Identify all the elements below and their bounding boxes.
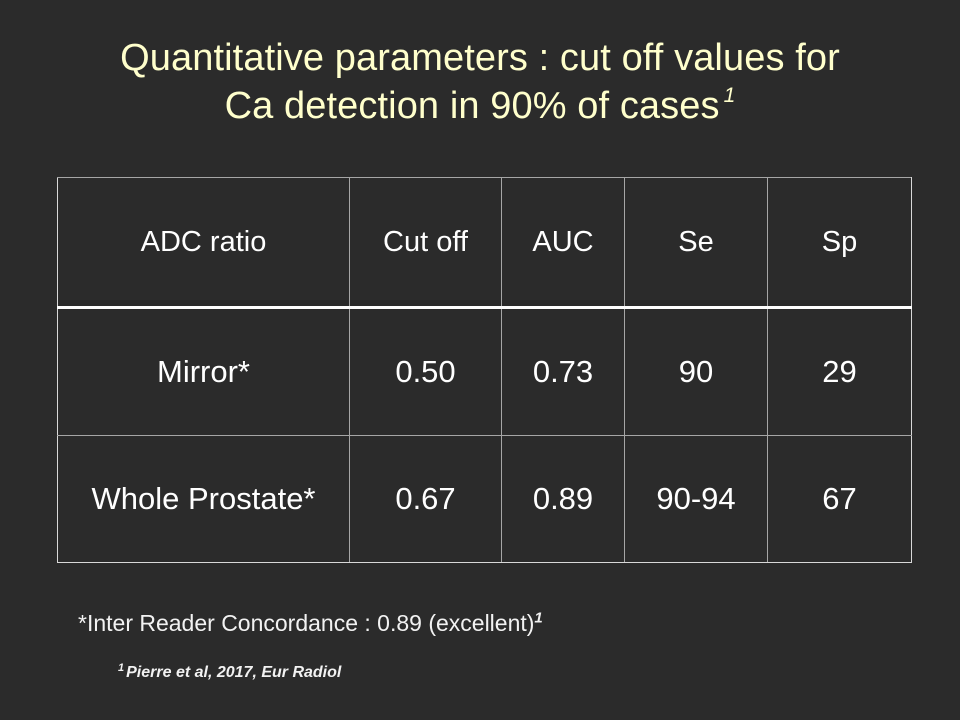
citation-text: Pierre et al, 2017, Eur Radiol	[126, 664, 341, 681]
cell-mirror-auc: 0.73	[502, 308, 625, 436]
table-row: Mirror* 0.50 0.73 90 29	[58, 308, 912, 436]
cutoff-values-table: ADC ratio Cut off AUC Se Sp Mirror* 0.50…	[57, 177, 912, 563]
table-row: Whole Prostate* 0.67 0.89 90-94 67	[58, 436, 912, 563]
cell-whole-prostate-sp: 67	[768, 436, 912, 563]
footnote-concordance-superscript: 1	[534, 609, 542, 626]
page-title-line-1: Quantitative parameters : cut off values…	[40, 34, 920, 82]
cell-mirror-sp: 29	[768, 308, 912, 436]
column-header-se: Se	[625, 178, 768, 308]
column-header-sp: Sp	[768, 178, 912, 308]
page-title-line-2: Ca detection in 90% of cases1	[40, 82, 920, 130]
cell-whole-prostate-cut-off: 0.67	[350, 436, 502, 563]
slide-canvas: Quantitative parameters : cut off values…	[0, 0, 960, 720]
citation-superscript: 1	[118, 662, 124, 674]
footnote-inter-reader-concordance: *Inter Reader Concordance : 0.89 (excell…	[78, 608, 543, 638]
row-label-whole-prostate: Whole Prostate*	[58, 436, 350, 563]
cell-mirror-se: 90	[625, 308, 768, 436]
cell-whole-prostate-auc: 0.89	[502, 436, 625, 563]
page-title-line-2-text: Ca detection in 90% of cases	[225, 85, 720, 127]
cell-mirror-cut-off: 0.50	[350, 308, 502, 436]
column-header-cut-off: Cut off	[350, 178, 502, 308]
page-title-superscript: 1	[724, 84, 736, 107]
citation-reference: 1Pierre et al, 2017, Eur Radiol	[118, 662, 341, 684]
row-label-mirror: Mirror*	[58, 308, 350, 436]
cell-whole-prostate-se: 90-94	[625, 436, 768, 563]
column-header-auc: AUC	[502, 178, 625, 308]
footnote-concordance-text: *Inter Reader Concordance : 0.89 (excell…	[78, 610, 534, 636]
page-title: Quantitative parameters : cut off values…	[40, 34, 920, 130]
column-header-adc-ratio: ADC ratio	[58, 178, 350, 308]
table-header-row: ADC ratio Cut off AUC Se Sp	[58, 178, 912, 308]
